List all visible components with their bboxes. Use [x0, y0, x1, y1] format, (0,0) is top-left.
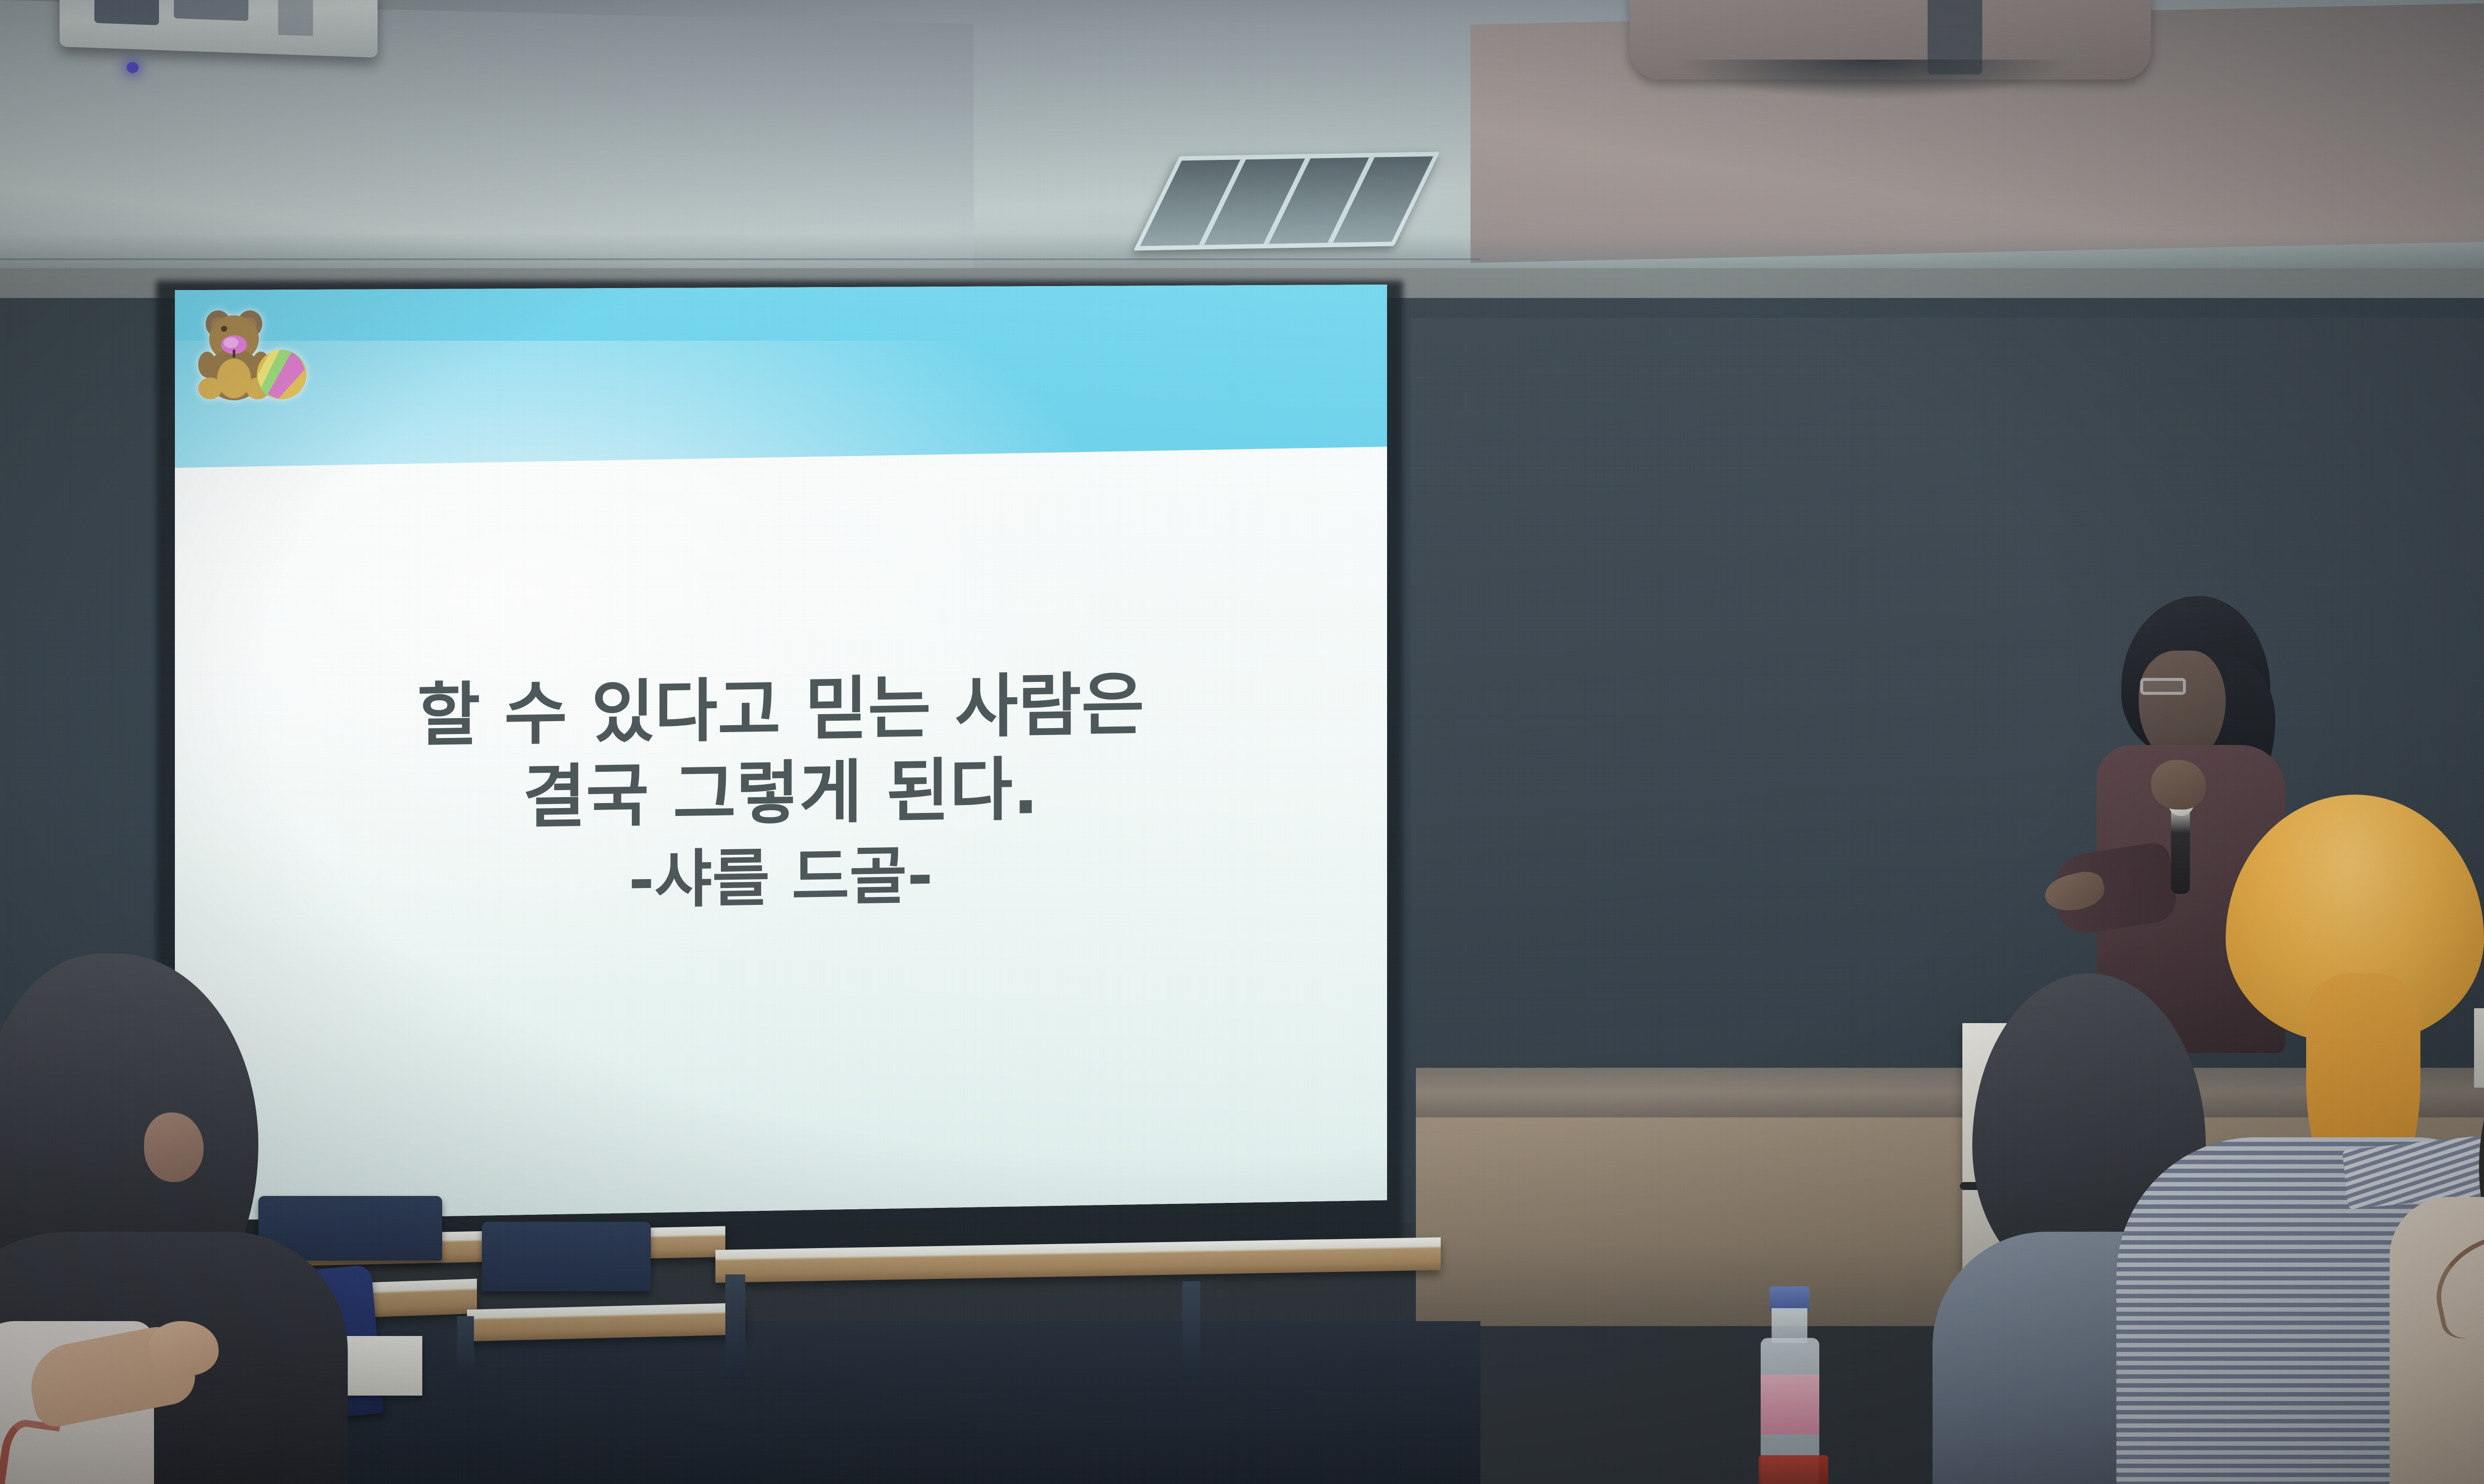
shirt-pattern	[0, 1417, 60, 1484]
teddy-bear-with-ball-icon	[194, 305, 309, 404]
foreground-attendee	[0, 1301, 248, 1484]
glasses-icon	[2140, 678, 2186, 695]
desk-top	[467, 1303, 745, 1341]
desk-leg	[725, 1274, 745, 1379]
attendee-ear	[144, 1113, 204, 1182]
ceiling-air-vent	[1133, 151, 1440, 250]
right-edge-attendee	[2419, 1033, 2484, 1484]
water-bottle	[1749, 1286, 1833, 1484]
ceiling-edge-line	[0, 258, 1480, 260]
desk-leg	[457, 1316, 474, 1381]
projector-power-led	[127, 62, 139, 73]
bottle-label	[1761, 1375, 1819, 1434]
lecture-hall-photo: 할 수 있다고 믿는 사람은 결국 그렇게 된다. -샤를 드골-	[0, 0, 2484, 1484]
attendee-top	[2390, 1197, 2484, 1484]
red-object-behind-bottle	[1759, 1455, 1828, 1484]
projector-mount	[278, 0, 313, 36]
projector-lens-icon	[94, 0, 159, 25]
attendee-hand	[149, 1321, 219, 1376]
desk-leg	[1182, 1281, 1200, 1381]
quote-line-2: 결국 그렇게 된다.	[247, 743, 1314, 844]
slide-header-band	[175, 285, 1387, 476]
bottle-cap	[1770, 1286, 1809, 1311]
quote-attribution: -샤를 드골-	[247, 827, 1314, 929]
handheld-microphone	[2171, 805, 2190, 894]
chair-back	[482, 1222, 651, 1291]
slide-quote: 할 수 있다고 믿는 사람은 결국 그렇게 된다. -샤를 드골-	[247, 660, 1314, 929]
quote-line-1: 할 수 있다고 믿는 사람은	[247, 660, 1314, 760]
ceiling-unit-shadow	[1679, 60, 2067, 99]
projector-body	[174, 0, 248, 21]
desk-top	[715, 1237, 1441, 1282]
